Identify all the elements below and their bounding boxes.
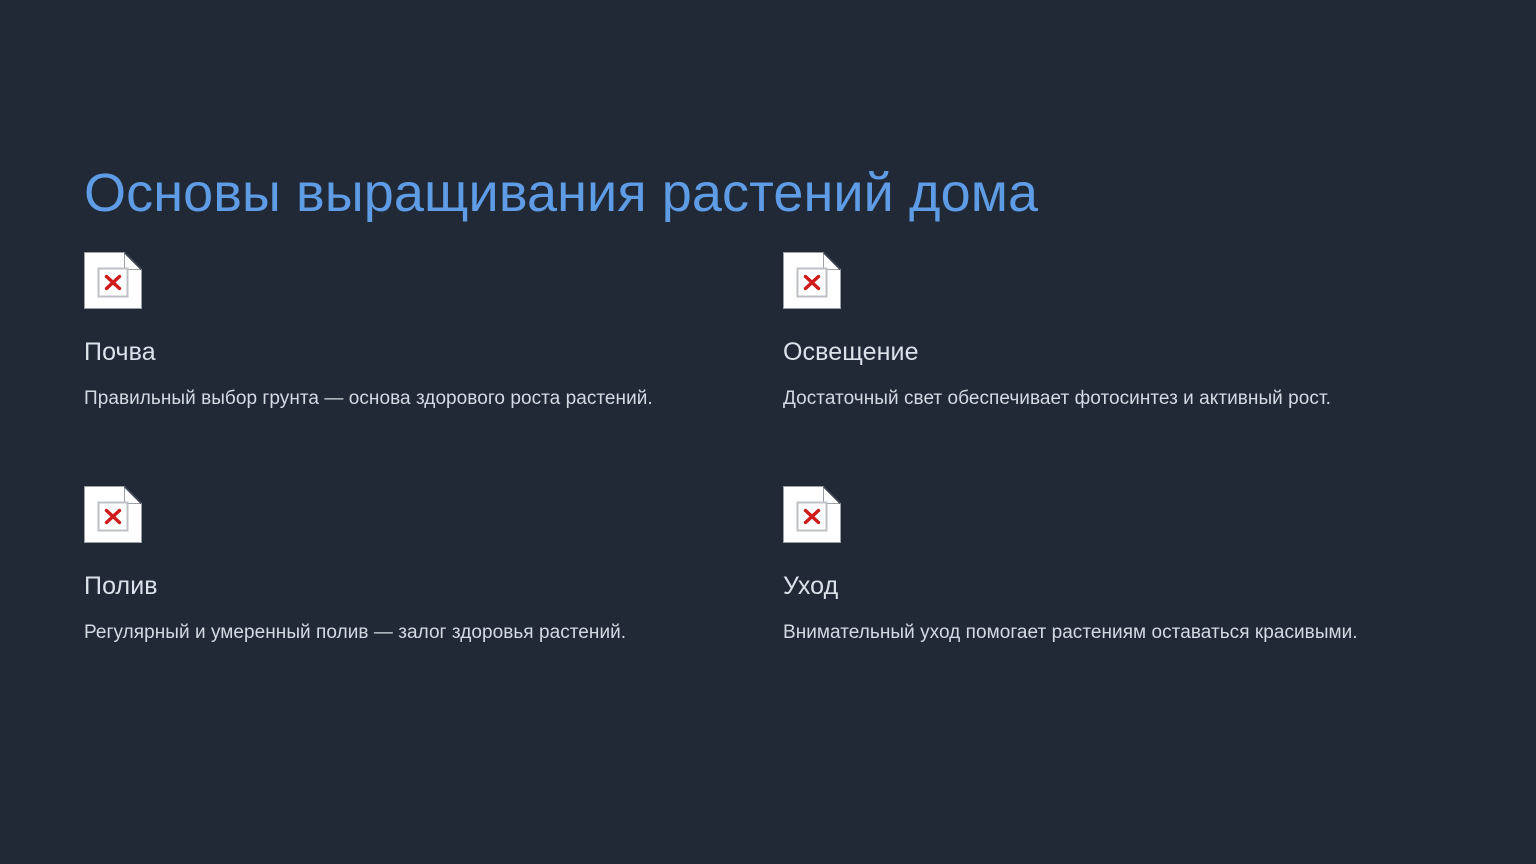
broken-image-icon (84, 486, 142, 543)
feature-card-body: Внимательный уход помогает растениям ост… (783, 602, 1383, 649)
presentation-slide: Основы выращивания растений дома Почва П… (0, 0, 1536, 864)
broken-image-icon (783, 252, 841, 309)
feature-card-heading: Освещение (783, 309, 1455, 368)
feature-card-heading: Полив (84, 543, 756, 602)
broken-image-icon (84, 252, 142, 309)
feature-card-body: Правильный выбор грунта — основа здорово… (84, 368, 684, 415)
page-title: Основы выращивания растений дома (84, 162, 1424, 226)
feature-card-body: Достаточный свет обеспечивает фотосинтез… (783, 368, 1473, 415)
feature-card-heading: Почва (84, 309, 756, 368)
feature-card-body: Регулярный и умеренный полив — залог здо… (84, 602, 756, 649)
feature-card-heading: Уход (783, 543, 1455, 602)
feature-card-soil: Почва Правильный выбор грунта — основа з… (84, 252, 756, 415)
feature-card-lighting: Освещение Достаточный свет обеспечивает … (783, 252, 1455, 415)
feature-card-watering: Полив Регулярный и умеренный полив — зал… (84, 486, 756, 649)
feature-card-grid: Почва Правильный выбор грунта — основа з… (84, 252, 1462, 649)
feature-card-care: Уход Внимательный уход помогает растения… (783, 486, 1455, 649)
broken-image-icon (783, 486, 841, 543)
